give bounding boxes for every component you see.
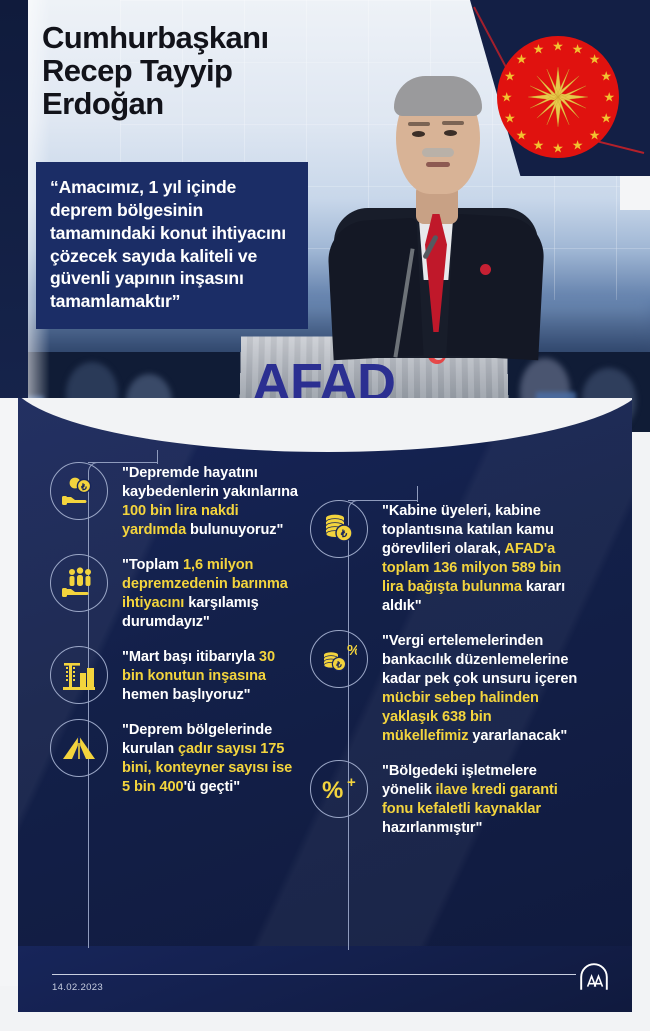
coin-stack-icon: ₺	[310, 500, 368, 558]
connector-stub-left	[157, 450, 158, 464]
statement-plain: hemen başlıyoruz"	[122, 687, 251, 703]
emblem-star: ★	[516, 53, 528, 66]
statement-text: "Deprem bölgelerinde kurulan çadır sayıs…	[122, 719, 300, 797]
emblem-star: ★	[589, 53, 601, 66]
emblem-star: ★	[552, 142, 564, 155]
statement-text: "Mart başı itibarıyla 30 bin konutun inş…	[122, 646, 300, 705]
title-line-3: Erdoğan	[42, 88, 268, 121]
headline-quote-text: “Amacımız, 1 yıl içinde deprem bölgesini…	[50, 176, 292, 313]
left-navy-strip	[0, 0, 28, 432]
percent-plus-icon: % +	[310, 760, 368, 818]
svg-text:%: %	[347, 643, 357, 659]
emblem-star: ★	[572, 42, 584, 55]
page-title: Cumhurbaşkanı Recep Tayyip Erdoğan	[42, 22, 268, 121]
footer-bar: 14.02.2023	[18, 946, 632, 1012]
connector-top-right	[348, 500, 418, 501]
statement-text: "Vergi ertelemelerinden bankacılık düzen…	[382, 630, 580, 746]
sixteen-point-sun-icon	[527, 66, 589, 128]
statement-plain: bulunuyoruz"	[190, 522, 283, 538]
statement-plain: hazırlanmıştır"	[382, 820, 482, 836]
svg-text:₺: ₺	[340, 529, 348, 540]
lapel-pin	[480, 264, 491, 275]
statement-plain: "Toplam	[122, 557, 183, 573]
title-line-2: Recep Tayyip	[42, 55, 268, 88]
emblem-star: ★	[504, 70, 516, 83]
statement-text: "Bölgedeki işletmelere yönelik ilave kre…	[382, 760, 580, 838]
emblem-star: ★	[589, 128, 601, 141]
statement-plain: yararlanacak"	[472, 728, 567, 744]
svg-text:₺: ₺	[80, 482, 87, 492]
statement-text: "Toplam 1,6 milyon depremzedenin barınma…	[122, 554, 300, 632]
tent-icon	[50, 719, 108, 777]
svg-text:+: +	[347, 774, 356, 791]
emblem-star: ★	[552, 39, 564, 52]
construction-crane-icon	[50, 646, 108, 704]
svg-text:%: %	[322, 777, 343, 804]
infographic-page: AFAD	[0, 0, 650, 1031]
connector-stub-right	[417, 486, 418, 502]
emblem-star: ★	[504, 111, 516, 124]
emblem-star: ★	[533, 139, 545, 152]
statement-item: "Mart başı itibarıyla 30 bin konutun inş…	[50, 646, 300, 705]
connector-line-right	[348, 526, 349, 950]
right-statement-column: ₺ "Kabine üyeleri, kabine toplantısına k…	[310, 500, 580, 852]
emblem-star: ★	[516, 128, 528, 141]
statement-plain: "Vergi ertelemelerinden bankacılık düzen…	[382, 633, 577, 687]
emblem-star: ★	[572, 139, 584, 152]
emblem-star: ★	[600, 70, 612, 83]
statement-item: % + "Bölgedeki işletmelere yönelik ilave…	[310, 760, 580, 838]
statement-item: ₺ "Kabine üyeleri, kabine toplantısına k…	[310, 500, 580, 616]
footer-divider	[52, 974, 576, 975]
svg-text:₺: ₺	[335, 659, 342, 669]
hand-holding-family-icon	[50, 554, 108, 612]
emblem-star: ★	[603, 91, 615, 104]
publish-date: 14.02.2023	[52, 982, 103, 993]
emblem-star: ★	[501, 91, 513, 104]
anadolu-agency-logo	[578, 962, 610, 992]
emblem-star: ★	[600, 111, 612, 124]
statement-plain: "Mart başı itibarıyla	[122, 649, 259, 665]
statement-item: ₺ % "Vergi ertelemelerinden bankacılık d…	[310, 630, 580, 746]
headline-quote-box: “Amacımız, 1 yıl içinde deprem bölgesini…	[36, 162, 308, 329]
emblem-star: ★	[533, 42, 545, 55]
panel-left-margin	[0, 398, 20, 986]
statement-text: "Kabine üyeleri, kabine toplantısına kat…	[382, 500, 580, 616]
statement-plain: "Depremde hayatını kaybedenlerin yakınla…	[122, 465, 298, 500]
hand-holding-coins-icon: ₺	[50, 462, 108, 520]
turkish-presidency-emblem: ★ ★ ★ ★ ★ ★ ★ ★ ★ ★ ★ ★ ★ ★ ★ ★	[497, 36, 619, 158]
statement-text: "Depremde hayatını kaybedenlerin yakınla…	[122, 462, 300, 540]
connector-top-left	[88, 462, 158, 463]
statement-plain: 'ü geçti"	[184, 779, 241, 795]
coins-percent-icon: ₺ %	[310, 630, 368, 688]
title-line-1: Cumhurbaşkanı	[42, 22, 268, 55]
